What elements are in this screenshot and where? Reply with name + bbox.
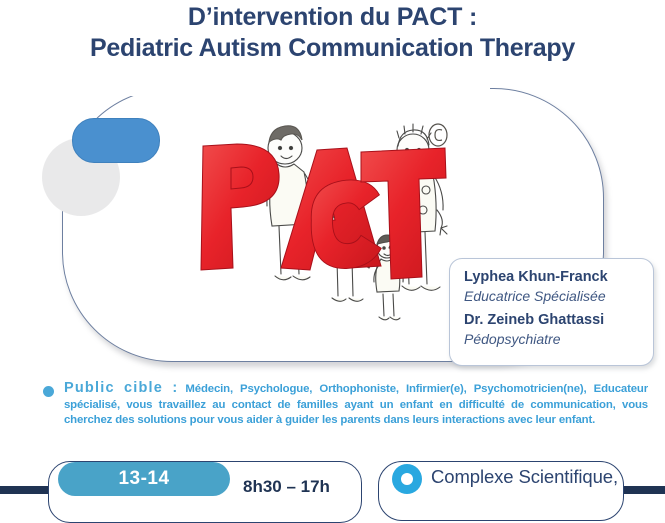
decorative-blue-pill bbox=[72, 118, 160, 163]
frame-top-mask bbox=[70, 70, 490, 96]
speakers-card: Lyphea Khun-Franck Educatrice Spécialisé… bbox=[449, 258, 654, 366]
page-title: D’intervention du PACT : Pediatric Autis… bbox=[0, 2, 665, 64]
target-audience-block: Public cible : Médecin, Psychologue, Ort… bbox=[40, 381, 648, 429]
speaker-role-2: Pédopsychiatre bbox=[464, 330, 653, 349]
date-pill: 13-14 bbox=[58, 462, 230, 496]
speaker-name-1: Lyphea Khun-Franck bbox=[464, 267, 653, 287]
speaker-role-1: Educatrice Spécialisée bbox=[464, 287, 653, 306]
bullet-dot-icon bbox=[43, 386, 54, 397]
title-line-1: D’intervention du PACT : bbox=[0, 2, 665, 32]
target-audience-text: Public cible : Médecin, Psychologue, Ort… bbox=[64, 381, 648, 429]
pact-logo-illustration bbox=[185, 108, 450, 333]
speaker-name-2: Dr. Zeineb Ghattassi bbox=[464, 310, 653, 330]
time-text: 8h30 – 17h bbox=[243, 477, 330, 497]
venue-text: Complexe Scientifique, bbox=[431, 466, 618, 488]
date-text: 13-14 bbox=[118, 468, 169, 489]
target-audience-lead: Public cible : bbox=[64, 380, 178, 396]
title-line-2: Pediatric Autism Communication Therapy bbox=[0, 32, 665, 64]
venue-ring-logo-icon bbox=[392, 464, 422, 494]
